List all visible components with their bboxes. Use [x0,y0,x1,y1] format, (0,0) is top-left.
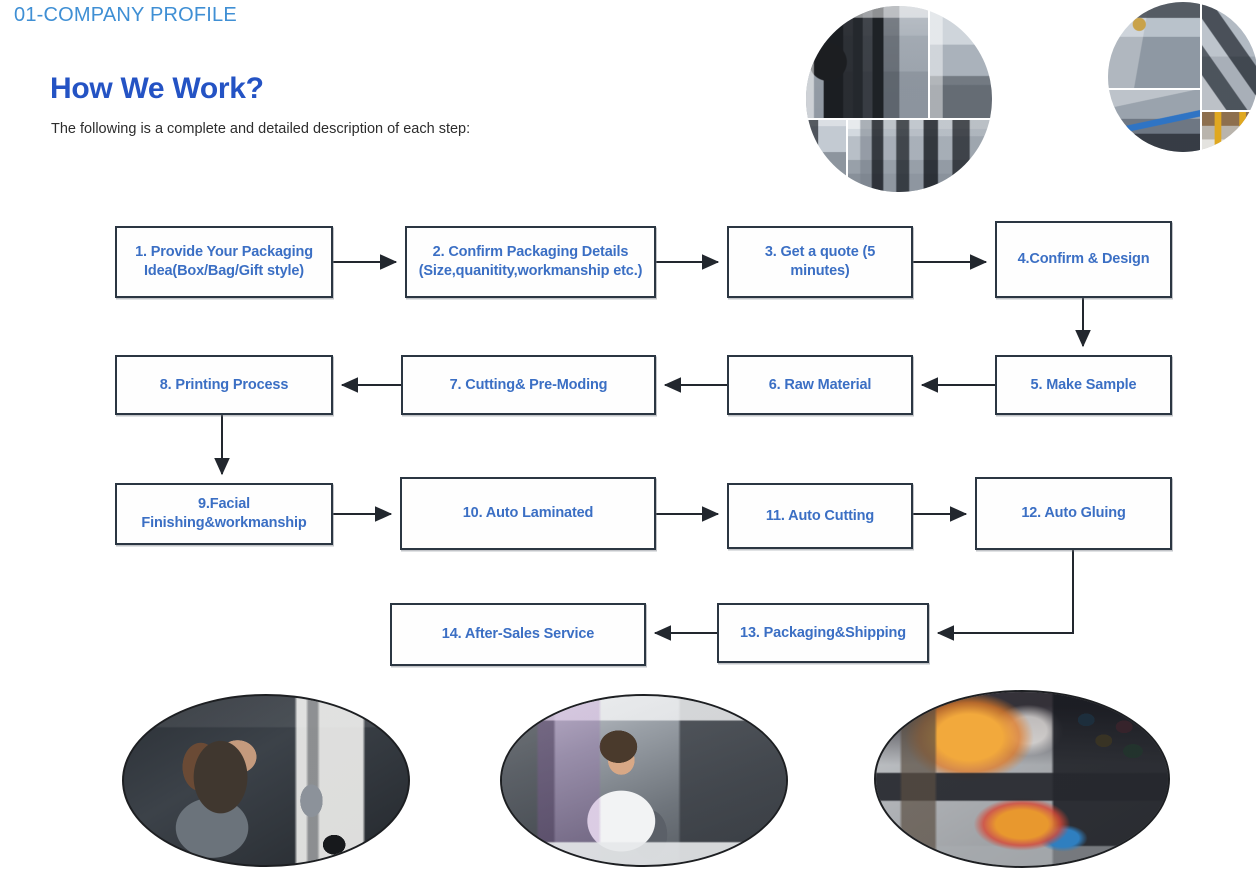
flow-step-5[interactable]: 5. Make Sample [995,355,1172,415]
collage-cell-finisher-top [1108,2,1200,88]
flow-step-3[interactable]: 3. Get a quote (5 minutes) [727,226,913,298]
flow-step-label: 9.Facial Finishing&workmanship [124,495,324,533]
flow-step-9[interactable]: 9.Facial Finishing&workmanship [115,483,333,545]
operator-photo [500,694,788,867]
flow-step-label: 6. Raw Material [769,376,872,395]
flow-step-label: 5. Make Sample [1031,376,1137,395]
flow-step-6[interactable]: 6. Raw Material [727,355,913,415]
collage-cell-press-side [930,6,992,118]
collage-cell-finisher-right [1202,2,1256,110]
flow-step-label: 10. Auto Laminated [463,504,594,523]
collage-sheen [1108,2,1200,88]
flow-step-2[interactable]: 2. Confirm Packaging Details (Size,quani… [405,226,656,298]
flow-step-label: 3. Get a quote (5 minutes) [736,243,904,281]
flow-step-1[interactable]: 1. Provide Your Packaging Idea(Box/Bag/G… [115,226,333,298]
photo-layer [124,696,408,865]
collage-sheen [1202,112,1256,152]
collage-sheen [1108,90,1200,152]
flow-step-label: 1. Provide Your Packaging Idea(Box/Bag/G… [124,243,324,281]
flow-step-14[interactable]: 14. After-Sales Service [390,603,646,666]
flow-step-label: 12. Auto Gluing [1021,504,1125,523]
flow-step-label: 4.Confirm & Design [1018,250,1150,269]
flow-step-label: 11. Auto Cutting [766,507,874,526]
flow-step-10[interactable]: 10. Auto Laminated [400,477,656,550]
flow-step-label: 8. Printing Process [160,376,289,395]
flow-step-label: 13. Packaging&Shipping [740,624,906,643]
section-label: 01-COMPANY PROFILE [14,4,237,27]
photo-layer [876,692,1168,866]
collage-sheen [848,120,992,192]
connector-12-13 [938,550,1073,633]
page-subtitle: The following is a complete and detailed… [51,119,481,139]
collage-sheen [806,6,928,118]
flow-step-label: 7. Cutting& Pre-Moding [450,376,608,395]
flow-step-12[interactable]: 12. Auto Gluing [975,477,1172,550]
page-title: How We Work? [50,72,264,106]
designer-photo [122,694,410,867]
flow-step-label: 14. After-Sales Service [442,625,594,644]
flow-step-13[interactable]: 13. Packaging&Shipping [717,603,929,663]
flow-step-7[interactable]: 7. Cutting& Pre-Moding [401,355,656,415]
flow-step-label: 2. Confirm Packaging Details (Size,quani… [414,243,647,281]
collage-cell-finisher-left [1108,90,1200,152]
collage-cell-press-main [806,6,928,118]
finishing-machine-collage [1108,2,1256,152]
printing-press-collage [806,6,992,192]
collage-cell-press-corner [806,120,846,192]
collage-sheen [806,120,846,192]
collage-sheen [1202,2,1256,110]
flow-step-4[interactable]: 4.Confirm & Design [995,221,1172,298]
flow-step-8[interactable]: 8. Printing Process [115,355,333,415]
printer-photo [874,690,1170,868]
photo-layer [502,696,786,865]
collage-cell-press-bottom [848,120,992,192]
collage-cell-finisher-bottom [1202,112,1256,152]
collage-sheen [930,6,992,118]
flow-step-11[interactable]: 11. Auto Cutting [727,483,913,549]
